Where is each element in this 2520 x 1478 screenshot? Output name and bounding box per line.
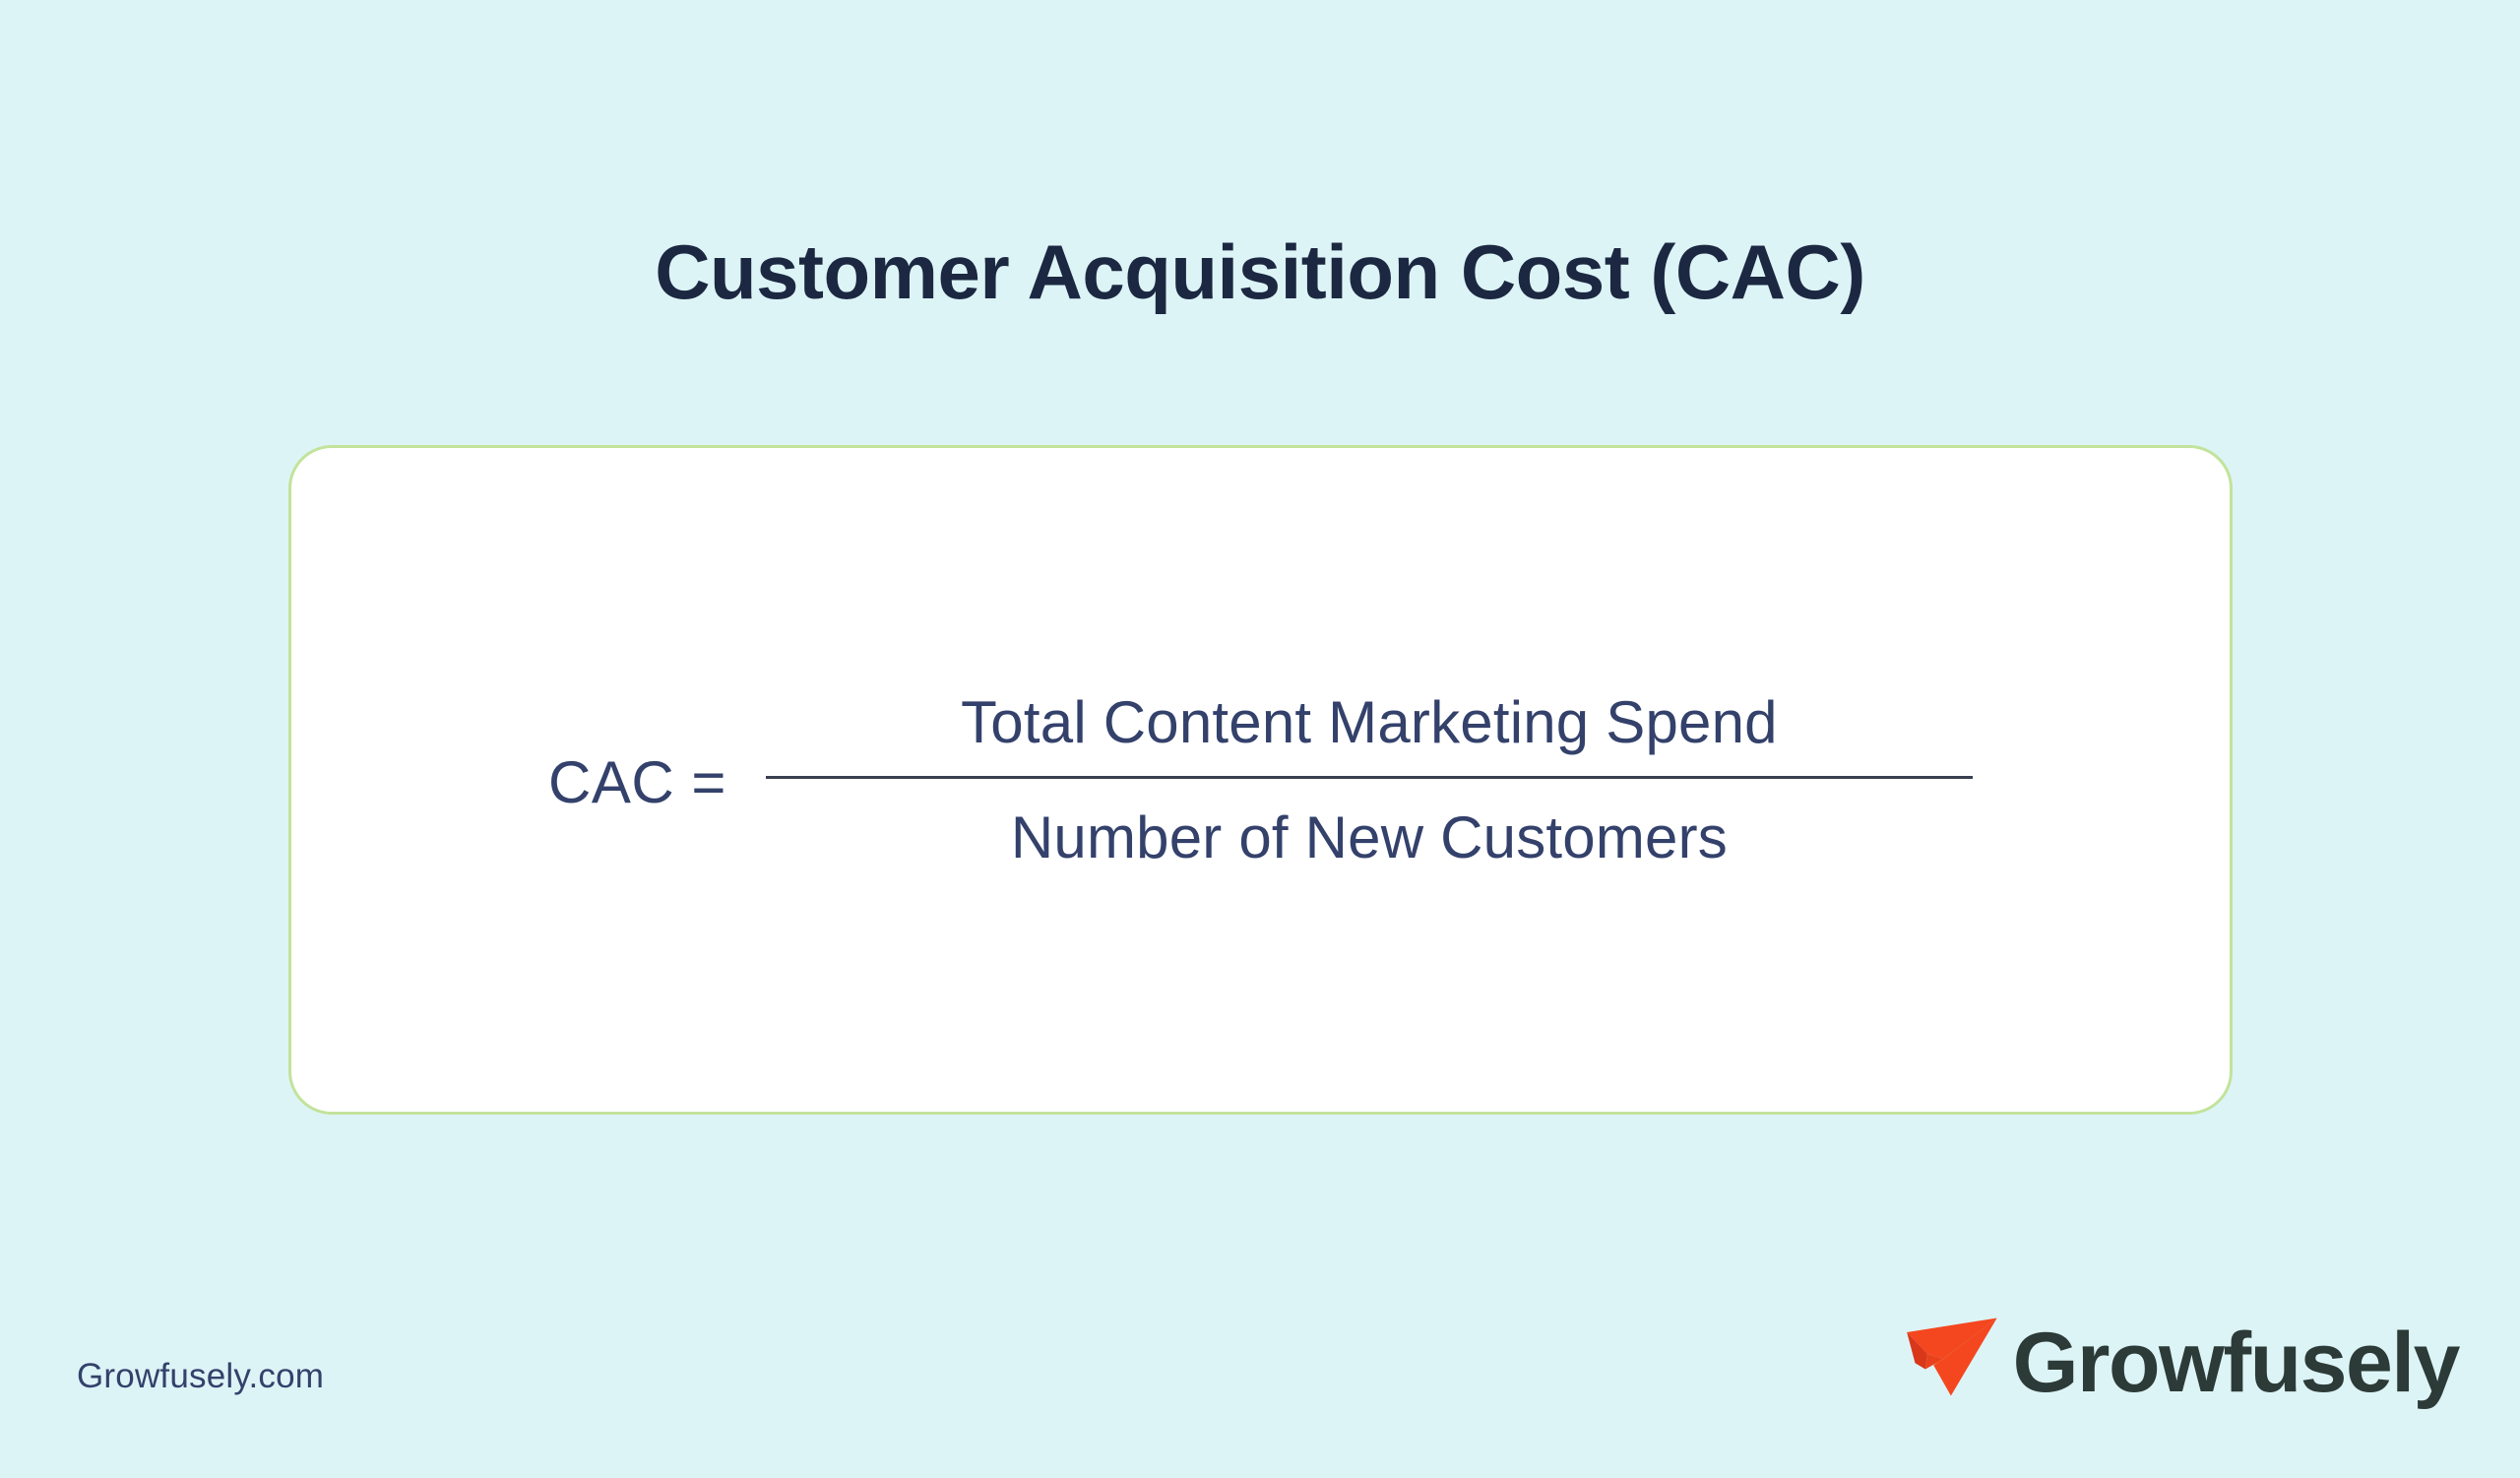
fraction: Total Content Marketing Spend Number of … — [766, 693, 1973, 868]
fraction-numerator: Total Content Marketing Spend — [961, 693, 1778, 776]
fraction-denominator: Number of New Customers — [1011, 779, 1728, 868]
paper-plane-icon — [1903, 1306, 2005, 1408]
footer-website-url: Growfusely.com — [77, 1357, 324, 1396]
formula-card: CAC = Total Content Marketing Spend Numb… — [288, 445, 2233, 1115]
brand-logo: Growfusely — [1903, 1298, 2459, 1416]
brand-wordmark: Growfusely — [2013, 1320, 2459, 1405]
formula-expression: CAC = Total Content Marketing Spend Numb… — [291, 448, 2230, 1112]
page-title: Customer Acquisition Cost (CAC) — [0, 230, 2520, 315]
formula-left-hand-side: CAC = — [548, 748, 726, 816]
